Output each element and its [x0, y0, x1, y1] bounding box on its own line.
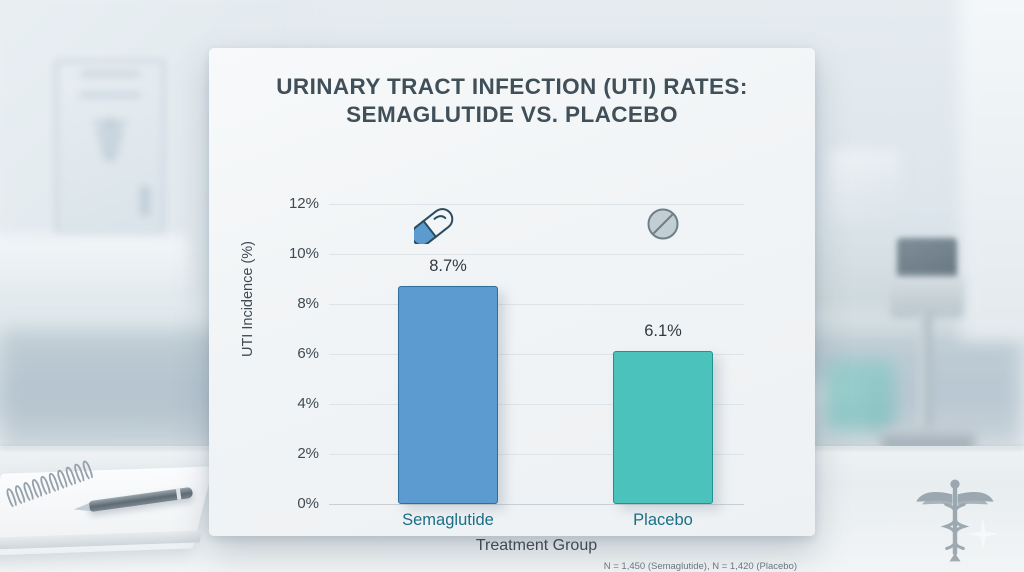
y-tick-label: 0% [275, 495, 319, 512]
y-tick-label: 12% [275, 195, 319, 212]
caduceus-watermark-icon [905, 474, 1005, 566]
category-label-semaglutide: Semaglutide [368, 511, 528, 530]
y-tick-label: 8% [275, 295, 319, 312]
x-axis-label: Treatment Group [329, 537, 744, 555]
bar-value-label-semaglutide: 8.7% [383, 257, 513, 276]
gridline-12 [329, 204, 744, 205]
gridline-8 [329, 304, 744, 305]
chart-card: URINARY TRACT INFECTION (UTI) RATES: SEM… [209, 48, 815, 536]
placebo-tablet-icon [645, 206, 681, 247]
y-tick-label: 4% [275, 395, 319, 412]
y-tick-label: 6% [275, 345, 319, 362]
y-tick-label: 10% [275, 245, 319, 262]
bar-semaglutide[interactable] [398, 286, 498, 504]
gridline-10 [329, 254, 744, 255]
clinic-window-right [960, 0, 1024, 340]
sample-size-footnote: N = 1,450 (Semaglutide), N = 1,420 (Plac… [604, 561, 797, 572]
clinic-cabinet-right [828, 150, 902, 222]
x-axis-line [329, 504, 744, 505]
medical-monitor-screen [897, 238, 957, 280]
capsule-pill-icon [414, 204, 458, 249]
medical-monitor-pole [919, 312, 932, 432]
category-label-placebo: Placebo [583, 511, 743, 530]
bar-chart-plot: 12% 10% 8% 6% 4% 2% 0% UTI Incidence (%) [209, 48, 815, 536]
certificate-caduceus-icon: ☤ [89, 111, 130, 173]
clinic-chair [825, 360, 895, 430]
bar-placebo[interactable] [613, 351, 713, 504]
y-tick-label: 2% [275, 445, 319, 462]
y-axis-label: UTI Incidence (%) [240, 199, 256, 399]
certificate-text-line [79, 93, 141, 97]
certificate-signature-line [140, 186, 150, 216]
framed-certificate: ☤ [55, 60, 165, 235]
bar-value-label-placebo: 6.1% [598, 322, 728, 341]
